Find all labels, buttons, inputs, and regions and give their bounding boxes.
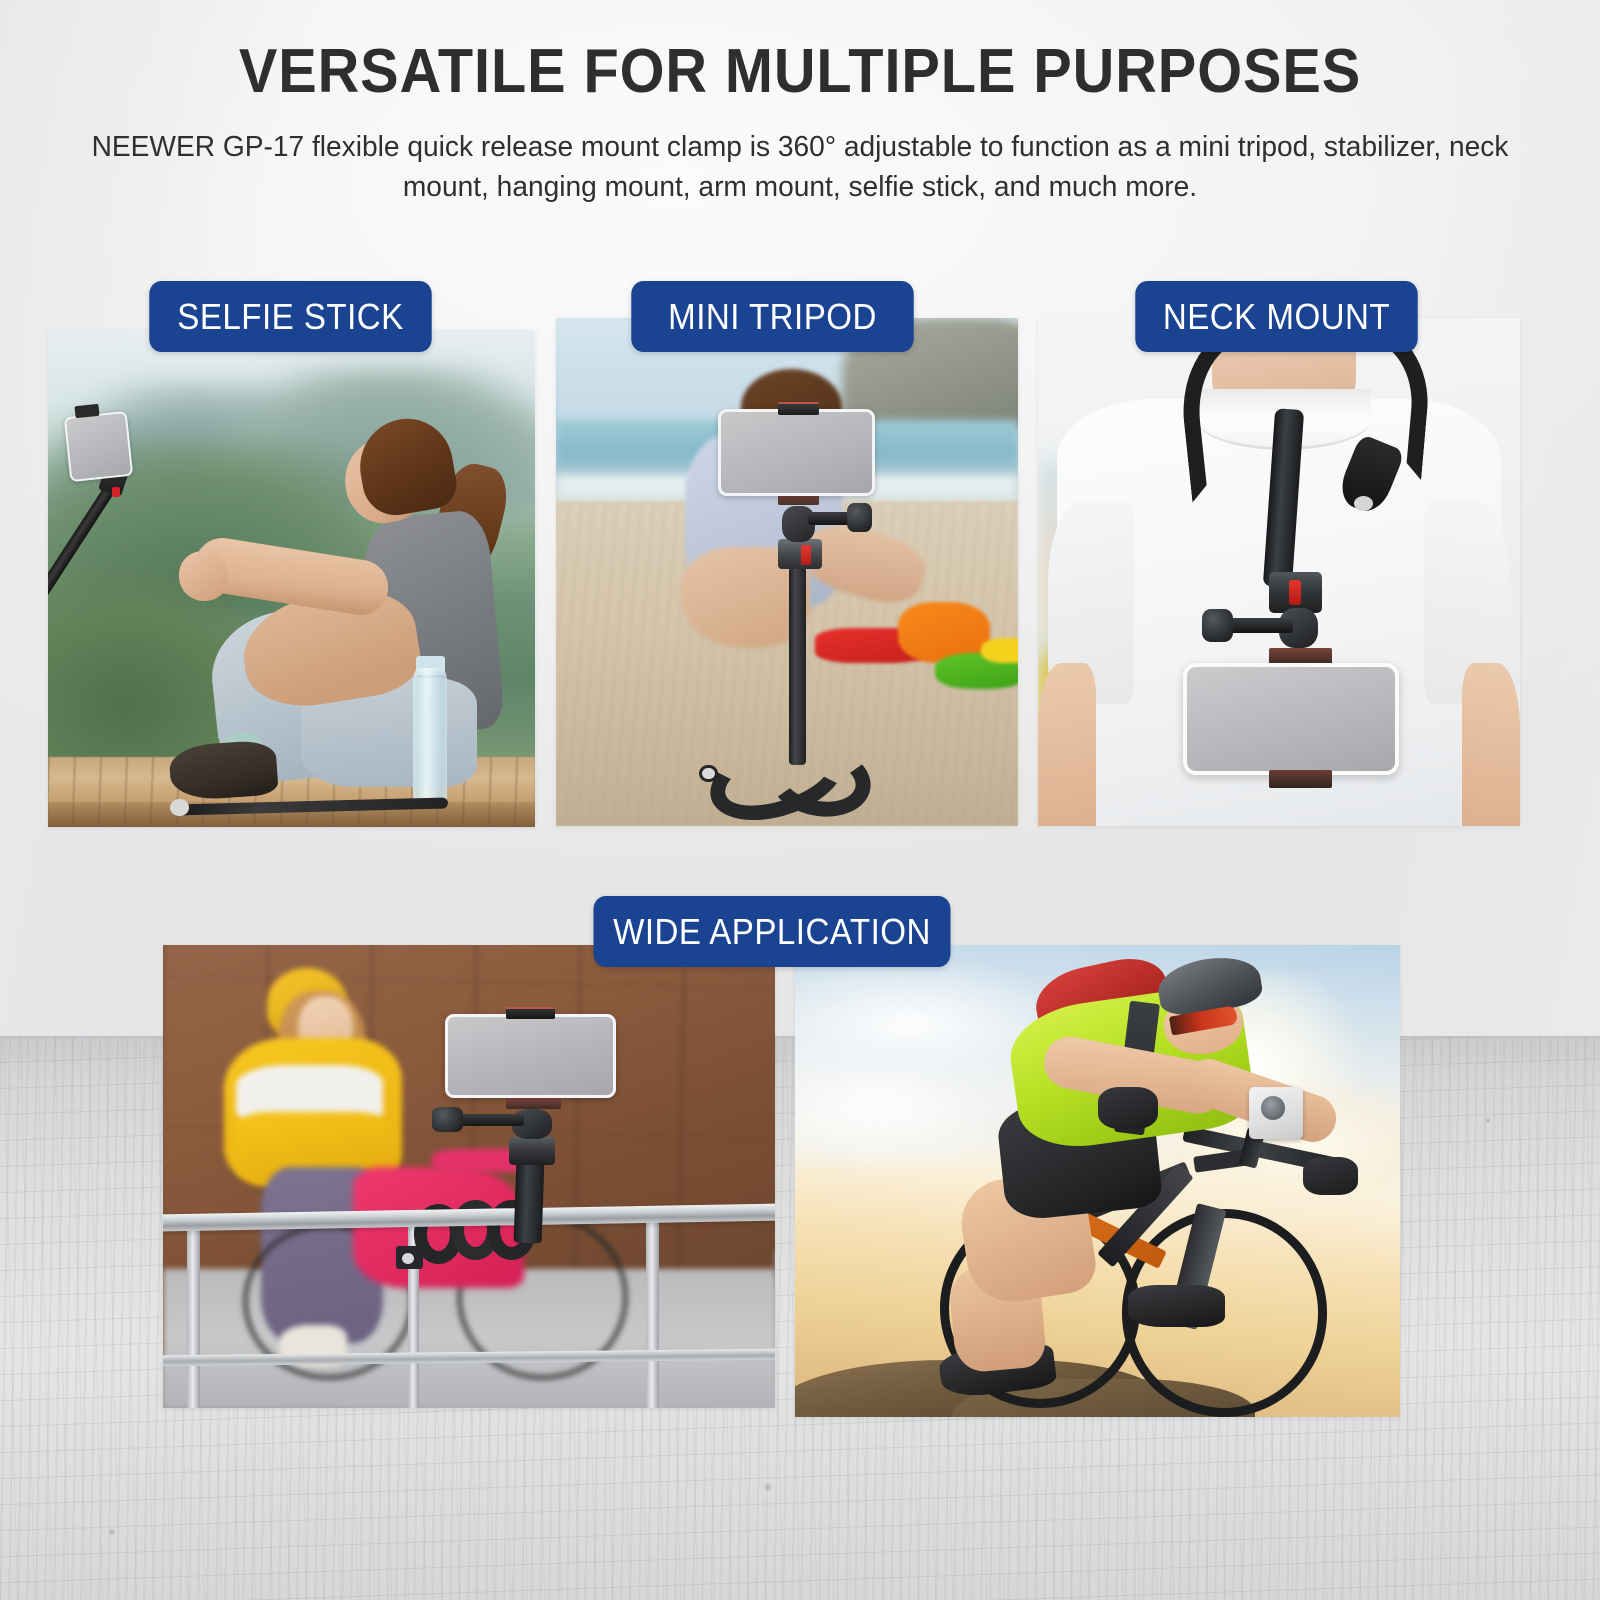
thumbscrew-knob (847, 503, 872, 532)
mountain-biker-photo (795, 945, 1400, 1417)
photo-panel-mini-tripod (556, 318, 1018, 826)
gooseneck-end-cap (699, 765, 717, 782)
railing-post-right (646, 1209, 658, 1408)
page-title: VERSATILE FOR MULTIPLE PURPOSES (56, 40, 1544, 103)
railing-post-left (187, 1214, 199, 1408)
locking-collar (778, 539, 822, 569)
water-bottle (413, 668, 447, 802)
badge-wide-application[interactable]: WIDE APPLICATION (594, 896, 951, 967)
quick-release-button (112, 487, 119, 498)
railing-clamp-photo (163, 945, 775, 1408)
badge-neck-mount[interactable]: NECK MOUNT (1135, 281, 1417, 352)
thumbscrew-knob (1202, 609, 1233, 642)
header: VERSATILE FOR MULTIPLE PURPOSES NEEWER G… (0, 0, 1600, 207)
rider-shoe-right (1128, 1285, 1225, 1327)
selfie-stick-photo (48, 330, 535, 827)
mounted-phone (718, 409, 875, 495)
badge-mini-tripod[interactable]: MINI TRIPOD (631, 281, 913, 352)
page-subtitle: NEEWER GP-17 flexible quick release moun… (87, 127, 1513, 207)
phone-clamp-top (506, 1007, 555, 1019)
mini-tripod-photo (556, 318, 1018, 826)
arm-right (1462, 663, 1520, 826)
neck-mount-photo (1038, 318, 1520, 826)
phone-clamp-top (778, 402, 820, 415)
photo-panel-neck-mount (1038, 318, 1520, 826)
gooseneck-stem (513, 1160, 543, 1244)
thumbscrew-knob (432, 1107, 463, 1132)
camera-lens (1261, 1096, 1285, 1120)
photo-panel-selfie-stick (48, 330, 535, 827)
mounted-phone (445, 1014, 616, 1097)
gooseneck-end-cap (402, 1253, 414, 1264)
mounted-phone (64, 411, 134, 482)
rider-glove-left (1098, 1087, 1159, 1129)
locking-collar (509, 1137, 555, 1165)
toy-yellow (981, 638, 1018, 663)
arm-left (1038, 663, 1096, 826)
quick-release-button (801, 545, 812, 565)
phone-clamp-top (74, 403, 99, 417)
photo-panel-mountain-biker (795, 945, 1400, 1417)
gooseneck-stem (789, 567, 806, 765)
badge-selfie-stick[interactable]: SELFIE STICK (149, 281, 431, 352)
quick-release-button (1289, 580, 1302, 605)
rider-glove-right (1303, 1157, 1357, 1195)
phone-clamp-bottom (1269, 770, 1332, 788)
gooseneck-end-cap (1354, 496, 1373, 511)
mounted-phone (1183, 663, 1400, 775)
photo-panel-railing-clamp (163, 945, 775, 1408)
